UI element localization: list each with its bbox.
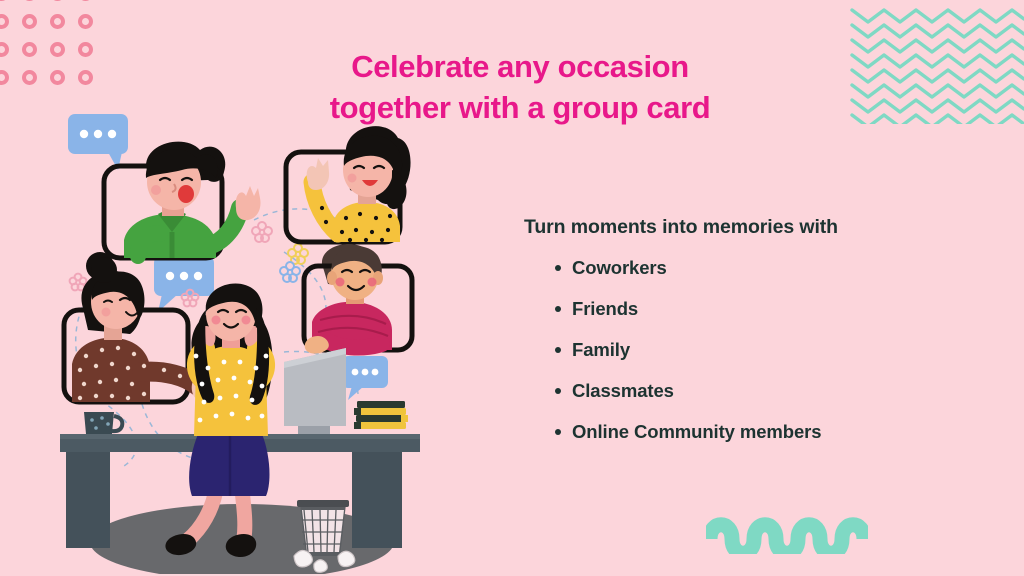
dot-ring xyxy=(78,42,93,57)
book-stack xyxy=(354,401,408,429)
dot-ring xyxy=(78,14,93,29)
frame-elder-magenta xyxy=(304,244,412,354)
dot-ring xyxy=(0,0,9,1)
audience-list: CoworkersFriendsFamilyClassmatesOnline C… xyxy=(524,257,974,443)
audience-list-item-label: Family xyxy=(572,339,630,360)
list-bullet-icon xyxy=(555,306,561,312)
dot-ring xyxy=(0,14,9,29)
page-title-line-1: Celebrate any occasion xyxy=(351,49,689,84)
slide-canvas: Celebrate any occasion together with a g… xyxy=(0,0,1024,576)
dot-ring xyxy=(50,42,65,57)
dot-ring xyxy=(22,0,37,1)
dot-ring xyxy=(0,70,9,85)
dot-ring xyxy=(78,0,93,1)
audience-list-item-label: Online Community members xyxy=(572,421,821,442)
dot-ring xyxy=(78,70,93,85)
list-bullet-icon xyxy=(555,347,561,353)
dot-ring xyxy=(50,70,65,85)
audience-list-item: Classmates xyxy=(572,380,974,402)
zigzag-decoration xyxy=(848,2,1024,124)
audience-list-item-label: Friends xyxy=(572,298,638,319)
coffee-mug xyxy=(84,412,122,434)
speech-bubble-bottom-right xyxy=(342,356,388,400)
speech-bubble-top-left xyxy=(68,114,128,170)
dot-ring xyxy=(22,42,37,57)
audience-list-item-label: Classmates xyxy=(572,380,674,401)
dot-ring xyxy=(22,70,37,85)
dot-ring xyxy=(0,42,9,57)
dot-ring xyxy=(50,14,65,29)
audience-list-item: Friends xyxy=(572,298,974,320)
copy-block: Turn moments into memories with Coworker… xyxy=(524,216,974,443)
hero-illustration xyxy=(46,104,438,574)
list-bullet-icon xyxy=(555,265,561,271)
copy-lead: Turn moments into memories with xyxy=(524,216,974,239)
dot-grid-decoration xyxy=(0,0,124,96)
frame-woman-yellow xyxy=(286,126,411,242)
wave-decoration xyxy=(706,512,868,554)
dot-ring xyxy=(22,14,37,29)
audience-list-item: Family xyxy=(572,339,974,361)
list-bullet-icon xyxy=(555,429,561,435)
list-bullet-icon xyxy=(555,388,561,394)
audience-list-item: Coworkers xyxy=(572,257,974,279)
dot-ring xyxy=(50,0,65,1)
audience-list-item: Online Community members xyxy=(572,421,974,443)
frame-man-green xyxy=(104,142,261,258)
monitor xyxy=(284,348,346,434)
audience-list-item-label: Coworkers xyxy=(572,257,667,278)
